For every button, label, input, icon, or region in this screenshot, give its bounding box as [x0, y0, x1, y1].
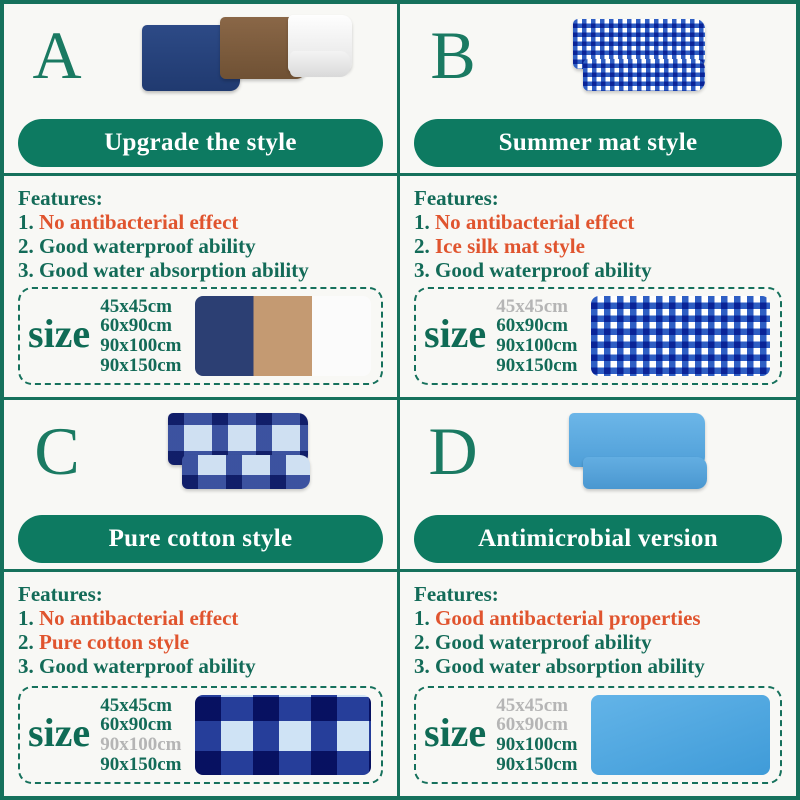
size-option[interactable]: 60x90cm [100, 316, 181, 336]
swatch-solid-light-blue [591, 695, 770, 775]
panel-hero: AUpgrade the style [4, 4, 397, 176]
size-option[interactable]: 60x90cm [496, 316, 577, 336]
feature-number: 3. [414, 654, 435, 678]
feature-text: Good water absorption ability [435, 654, 705, 678]
size-option[interactable]: 45x45cm [100, 696, 181, 716]
feature-text: No antibacterial effect [39, 606, 238, 630]
size-option[interactable]: 90x150cm [100, 755, 181, 775]
hero-media: C [4, 400, 397, 506]
feature-item: 1. No antibacterial effect [414, 210, 782, 234]
features-list: Features:1. Good antibacterial propertie… [414, 582, 782, 679]
feature-item: 3. Good water absorption ability [18, 258, 383, 282]
panel-details: Features:1. No antibacterial effect2. Pu… [4, 572, 397, 796]
feature-number: 2. [414, 630, 435, 654]
hero-media: A [4, 4, 397, 110]
feature-number: 3. [414, 258, 435, 282]
panel-details: Features:1. No antibacterial effect2. Ic… [400, 176, 796, 397]
panel-title: Upgrade the style [18, 119, 383, 167]
size-option: 45x45cm [496, 696, 577, 716]
feature-item: 3. Good waterproof ability [18, 654, 383, 678]
panel-letter-badge: A [18, 21, 96, 93]
swatch-navy-tan-white [195, 296, 371, 376]
size-option[interactable]: 90x150cm [496, 755, 577, 775]
size-option[interactable]: 60x90cm [100, 715, 181, 735]
features-list: Features:1. No antibacterial effect2. Go… [18, 186, 383, 283]
size-option[interactable]: 90x150cm [100, 356, 181, 376]
folded-pad-light-blue [539, 411, 749, 495]
hero-media: B [400, 4, 796, 110]
product-comparison-poster: AUpgrade the styleFeatures:1. No antibac… [0, 0, 800, 800]
pad-slab [583, 59, 705, 91]
feature-text: No antibacterial effect [39, 210, 238, 234]
swatch-blue-gingham [591, 296, 770, 376]
size-options: 45x45cm60x90cm90x100cm90x150cm [96, 696, 181, 774]
feature-number: 2. [414, 234, 435, 258]
product-image [96, 9, 397, 105]
size-box: size45x45cm60x90cm90x100cm90x150cm [18, 686, 383, 784]
pad-slab [182, 455, 310, 489]
size-box: size45x45cm60x90cm90x100cm90x150cm [414, 686, 782, 784]
panel-hero: BSummer mat style [400, 4, 796, 176]
feature-text: Good waterproof ability [39, 234, 256, 258]
feature-item: 2. Pure cotton style [18, 630, 383, 654]
pad-slab [583, 457, 707, 489]
features-heading: Features: [414, 186, 782, 210]
folded-pad-blue-plaid-cotton [142, 411, 352, 495]
size-options: 45x45cm60x90cm90x100cm90x150cm [492, 696, 577, 774]
folded-pad-blue-gingham [539, 15, 749, 99]
feature-text: Good waterproof ability [435, 630, 652, 654]
panel-letter-badge: C [18, 417, 96, 489]
title-pill-wrapper: Upgrade the style [4, 110, 397, 176]
size-label: size [424, 314, 486, 358]
feature-number: 1. [414, 210, 435, 234]
size-option: 90x100cm [100, 735, 181, 755]
panel-details: Features:1. Good antibacterial propertie… [400, 572, 796, 796]
product-image [492, 9, 796, 105]
feature-item: 1. No antibacterial effect [18, 210, 383, 234]
feature-number: 3. [18, 258, 39, 282]
hero-media: D [400, 400, 796, 506]
features-heading: Features: [414, 582, 782, 606]
features-list: Features:1. No antibacterial effect2. Ic… [414, 186, 782, 283]
size-options: 45x45cm60x90cm90x100cm90x150cm [96, 297, 181, 375]
feature-text: No antibacterial effect [435, 210, 634, 234]
size-options: 45x45cm60x90cm90x100cm90x150cm [492, 297, 577, 375]
feature-item: 3. Good waterproof ability [414, 258, 782, 282]
panel-title: Pure cotton style [18, 515, 383, 563]
size-box: size45x45cm60x90cm90x100cm90x150cm [18, 287, 383, 385]
feature-item: 1. No antibacterial effect [18, 606, 383, 630]
size-option[interactable]: 90x100cm [496, 336, 577, 356]
swatch-blue-large-plaid [195, 695, 371, 775]
panel-hero: DAntimicrobial version [400, 400, 796, 572]
size-label: size [28, 314, 90, 358]
feature-number: 1. [18, 210, 39, 234]
features-list: Features:1. No antibacterial effect2. Pu… [18, 582, 383, 679]
size-option: 60x90cm [496, 715, 577, 735]
feature-text: Pure cotton style [39, 630, 189, 654]
product-panel-c[interactable]: CPure cotton styleFeatures:1. No antibac… [4, 400, 400, 796]
feature-item: 2. Good waterproof ability [18, 234, 383, 258]
panel-title: Antimicrobial version [414, 515, 782, 563]
product-panel-b[interactable]: BSummer mat styleFeatures:1. No antibact… [400, 4, 796, 400]
product-image [96, 405, 397, 501]
title-pill-wrapper: Pure cotton style [4, 506, 397, 572]
product-image [492, 405, 796, 501]
size-option[interactable]: 90x150cm [496, 356, 577, 376]
panel-letter-badge: D [414, 417, 492, 489]
size-label: size [28, 713, 90, 757]
product-panel-a[interactable]: AUpgrade the styleFeatures:1. No antibac… [4, 4, 400, 400]
size-label: size [424, 713, 486, 757]
feature-number: 2. [18, 234, 39, 258]
feature-item: 1. Good antibacterial properties [414, 606, 782, 630]
panel-title: Summer mat style [414, 119, 782, 167]
features-heading: Features: [18, 582, 383, 606]
feature-text: Ice silk mat style [435, 234, 585, 258]
feature-text: Good waterproof ability [435, 258, 652, 282]
feature-number: 1. [414, 606, 435, 630]
feature-text: Good water absorption ability [39, 258, 309, 282]
panel-letter-badge: B [414, 21, 492, 93]
product-panel-d[interactable]: DAntimicrobial versionFeatures:1. Good a… [400, 400, 796, 796]
pad-slab [290, 51, 350, 77]
feature-number: 1. [18, 606, 39, 630]
folded-pads-navy-brown-white [142, 15, 352, 99]
title-pill-wrapper: Summer mat style [400, 110, 796, 176]
feature-text: Good antibacterial properties [435, 606, 701, 630]
size-option: 45x45cm [496, 297, 577, 317]
size-option[interactable]: 90x100cm [496, 735, 577, 755]
feature-item: 2. Ice silk mat style [414, 234, 782, 258]
feature-item: 2. Good waterproof ability [414, 630, 782, 654]
size-box: size45x45cm60x90cm90x100cm90x150cm [414, 287, 782, 385]
panel-hero: CPure cotton style [4, 400, 397, 572]
feature-text: Good waterproof ability [39, 654, 256, 678]
feature-number: 2. [18, 630, 39, 654]
feature-item: 3. Good water absorption ability [414, 654, 782, 678]
panel-details: Features:1. No antibacterial effect2. Go… [4, 176, 397, 397]
size-option[interactable]: 90x100cm [100, 336, 181, 356]
size-option[interactable]: 45x45cm [100, 297, 181, 317]
features-heading: Features: [18, 186, 383, 210]
feature-number: 3. [18, 654, 39, 678]
title-pill-wrapper: Antimicrobial version [400, 506, 796, 572]
